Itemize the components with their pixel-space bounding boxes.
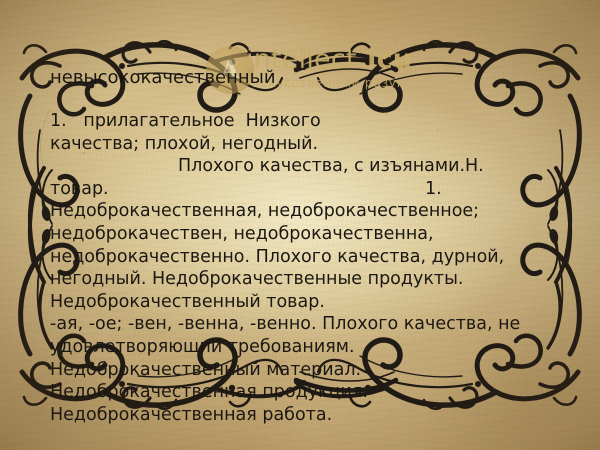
headword-title: невысококачественный xyxy=(50,67,276,88)
definition-block: 1. прилагательное Низкого качества; плох… xyxy=(50,110,595,426)
definition-line: качества; плохой, негодный. xyxy=(50,133,595,156)
slide-canvas: A intellect.icu искусственный разум невы… xyxy=(0,0,600,450)
definition-line: недоброкачественно. Плохого качества, ду… xyxy=(50,246,595,269)
definition-line: Недоброкачественный товар. xyxy=(50,291,595,314)
slide-content: невысококачественный 1. прилагательное Н… xyxy=(0,0,600,450)
definition-line: -ая, -ое; -вен, -венна, -венно. Плохого … xyxy=(50,313,595,336)
definition-line: Недоброкачественный материал. xyxy=(50,359,595,382)
definition-line: Недоброкачественная, недоброкачественное… xyxy=(50,200,595,223)
sense-number: 1. xyxy=(425,178,442,201)
definition-line: недоброкачествен, недоброкачественна, xyxy=(50,223,595,246)
definition-line: Недоброкачественная продукция. xyxy=(50,381,595,404)
definition-line: удовлетворяющий требованиям. xyxy=(50,336,595,359)
floating-phrase-line: Плохого качества, с изъянами.Н. xyxy=(50,155,595,178)
definition-line-text: товар. xyxy=(50,179,109,199)
floating-phrase: Плохого качества, с изъянами.Н. xyxy=(178,156,484,176)
definition-line: негодный. Недоброкачественные продукты. xyxy=(50,268,595,291)
definition-line: Недоброкачественная работа. xyxy=(50,404,595,427)
definition-line: 1. прилагательное Низкого xyxy=(50,110,595,133)
definition-line-with-number: товар.1. xyxy=(50,178,595,201)
